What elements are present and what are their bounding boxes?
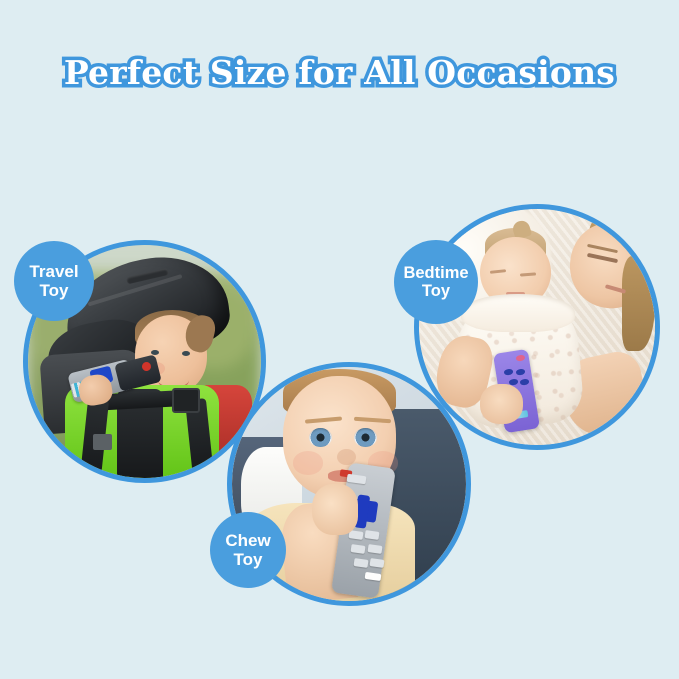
baby-hand [312, 484, 359, 535]
badge-bedtime-toy-label: Bedtime Toy [403, 264, 468, 301]
baby-cheek-left [293, 451, 323, 474]
page-title: Perfect Size for All Occasions [64, 56, 615, 89]
badge-line-2: Toy [40, 281, 69, 300]
infographic-canvas: Perfect Size for All Occasions [0, 0, 679, 679]
badge-line-1: Travel [29, 262, 78, 281]
baby-dress-collar [461, 294, 574, 332]
badge-line-2: Toy [234, 550, 263, 569]
badge-line-1: Bedtime [403, 264, 468, 282]
baby-eye-right [354, 428, 377, 447]
harness-clip [93, 434, 112, 450]
badge-bedtime-toy: Bedtime Toy [394, 240, 478, 324]
badge-line-2: Toy [422, 282, 450, 300]
badge-line-1: Chew [225, 531, 270, 550]
baby-eye-right [182, 351, 190, 356]
remote-toy-button [365, 530, 380, 540]
badge-travel-toy: Travel Toy [14, 241, 94, 321]
badge-travel-toy-label: Travel Toy [29, 262, 78, 300]
badge-chew-toy: Chew Toy [210, 512, 286, 588]
remote-toy-button [351, 544, 366, 554]
mother-hair-side [622, 256, 655, 350]
badge-chew-toy-label: Chew Toy [225, 531, 270, 569]
baby-hand [480, 384, 522, 424]
page-title-container: Perfect Size for All Occasions [0, 56, 679, 89]
harness-buckle [172, 388, 199, 413]
baby-eye-left [309, 428, 332, 447]
